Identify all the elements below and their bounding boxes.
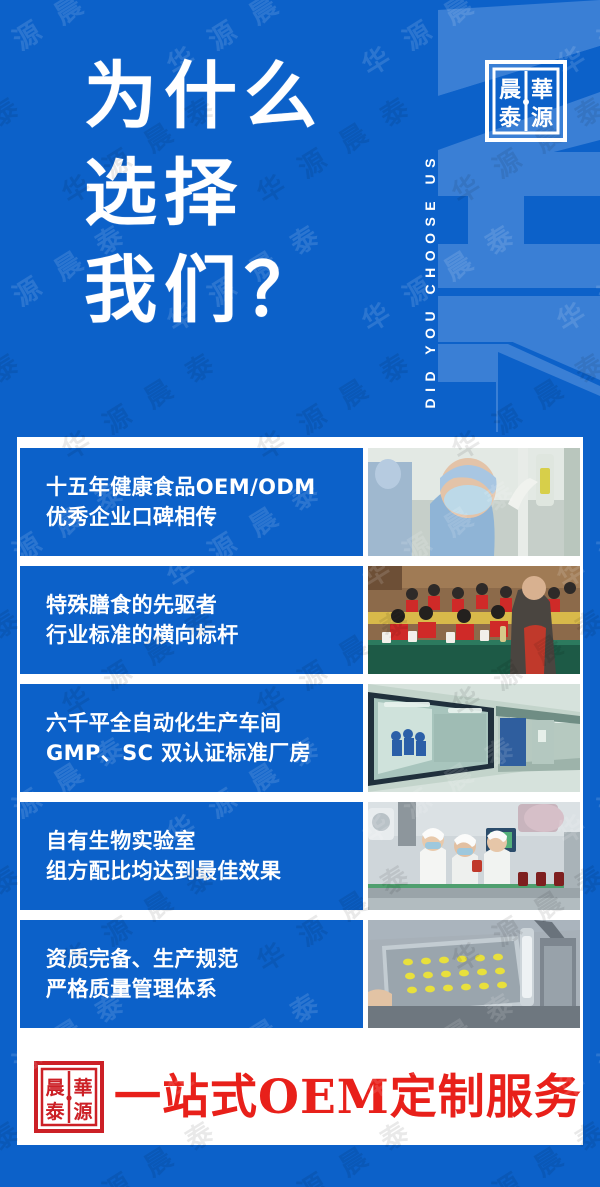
feature-text-block: 资质完备、生产规范 严格质量管理体系 [20,920,363,1028]
feature-line: 六千平全自动化生产车间 [46,708,363,738]
feature-line: 特殊膳食的先驱者 [46,590,363,620]
svg-text:華: 華 [73,1076,92,1099]
feature-line: 资质完备、生产规范 [46,944,363,974]
feature-line: GMP、SC 双认证标准厂房 [46,738,363,768]
svg-text:泰: 泰 [498,105,522,131]
svg-text:晨: 晨 [499,77,522,103]
feature-photo-tablet-press-machine [368,920,580,1028]
page-title: 为什么 选择 我们？ [84,48,324,339]
feature-row: 十五年健康食品OEM/ODM 优秀企业口碑相传 [20,448,580,556]
feature-photo-cleanroom-corridor [368,684,580,792]
feature-text-block: 自有生物实验室 组方配比均达到最佳效果 [20,802,363,910]
feature-line: 十五年健康食品OEM/ODM [46,472,363,502]
title-line-2: 选择 [84,145,324,242]
poster-root: DID YOU CHOOSE US 晨 華 泰 源 为什么 选择 我们？ [0,0,600,1187]
feature-line: 行业标准的横向标杆 [46,620,363,650]
feature-photo-lab-technician [368,448,580,556]
title-line-3: 我们？ [84,242,324,339]
vertical-caption-text: DID YOU CHOOSE US [422,152,438,409]
feature-line: 自有生物实验室 [46,826,363,856]
svg-text:晨: 晨 [45,1077,65,1099]
feature-row: 自有生物实验室 组方配比均达到最佳效果 [20,802,580,910]
company-seal-white-icon: 晨 華 泰 源 [483,57,569,145]
vertical-caption: DID YOU CHOOSE US [418,16,442,408]
feature-row: 六千平全自动化生产车间 GMP、SC 双认证标准厂房 [20,684,580,792]
feature-line: 优秀企业口碑相传 [46,502,363,532]
title-line-1: 为什么 [84,48,324,145]
feature-text-block: 六千平全自动化生产车间 GMP、SC 双认证标准厂房 [20,684,363,792]
feature-photo-production-line-workers [368,802,580,910]
svg-text:華: 華 [531,77,553,103]
svg-text:源: 源 [73,1100,92,1123]
svg-text:泰: 泰 [44,1100,65,1123]
feature-list: 十五年健康食品OEM/ODM 优秀企业口碑相传 [20,448,580,1038]
feature-photo-conference-audience [368,566,580,674]
svg-text:源: 源 [531,105,553,131]
watermark-text: 华 源 晨 泰 [0,84,30,212]
bottom-banner: 晨 華 泰 源 一站式OEM定制服务 [20,1053,580,1141]
feature-text-block: 十五年健康食品OEM/ODM 优秀企业口碑相传 [20,448,363,556]
feature-row: 资质完备、生产规范 严格质量管理体系 [20,920,580,1028]
feature-text-block: 特殊膳食的先驱者 行业标准的横向标杆 [20,566,363,674]
company-seal-red-icon: 晨 華 泰 源 [32,1058,106,1136]
feature-line: 严格质量管理体系 [46,974,363,1004]
feature-line: 组方配比均达到最佳效果 [46,856,363,886]
banner-headline: 一站式OEM定制服务 [114,1074,582,1121]
feature-row: 特殊膳食的先驱者 行业标准的横向标杆 [20,566,580,674]
